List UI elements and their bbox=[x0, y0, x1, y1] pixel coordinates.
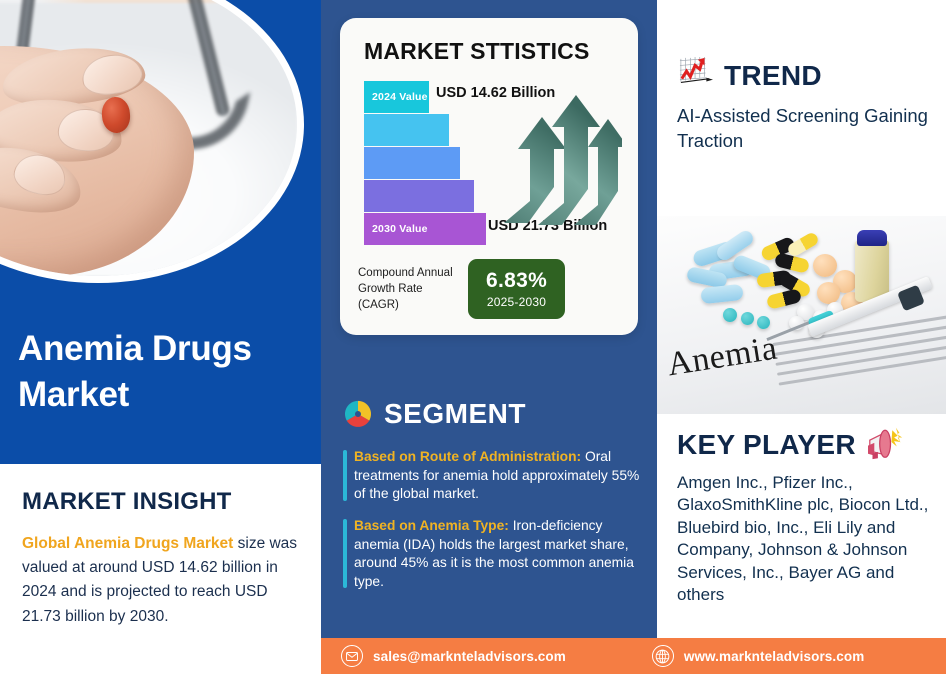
market-statistics-card: MARKET STTISTICS 2024 Value 2030 Value U… bbox=[340, 18, 638, 335]
page-title: Anemia Drugs Market bbox=[18, 326, 308, 418]
hand-holding-red-pill-photo bbox=[0, 0, 297, 276]
megaphone-icon bbox=[864, 424, 908, 465]
bar-step-2 bbox=[364, 114, 449, 146]
market-statistics-title: MARKET STTISTICS bbox=[364, 38, 620, 65]
footer-website[interactable]: www.marknteladvisors.com bbox=[652, 645, 864, 667]
cagr-period: 2025-2030 bbox=[486, 295, 547, 309]
market-insight-highlight: Global Anemia Drugs Market bbox=[22, 535, 233, 552]
bar-step-4 bbox=[364, 180, 474, 212]
vial-cap-icon bbox=[857, 230, 887, 246]
key-player-body: Amgen Inc., Pfizer Inc., GlaxoSmithKline… bbox=[677, 472, 935, 607]
segment-header: SEGMENT bbox=[343, 398, 526, 430]
bar-step-3 bbox=[364, 147, 460, 179]
right-column: TREND AI-Assisted Screening Gaining Trac… bbox=[657, 0, 946, 638]
left-column: Anemia Drugs Market MARKET INSIGHT Globa… bbox=[0, 0, 321, 674]
segment-item-heading: Based on Route of Administration: bbox=[354, 449, 581, 464]
trend-body: AI-Assisted Screening Gaining Traction bbox=[677, 104, 932, 153]
segment-title: SEGMENT bbox=[384, 398, 526, 430]
bar-label-2030: 2030 Value bbox=[372, 223, 428, 235]
infographic-canvas: Anemia Drugs Market MARKET INSIGHT Globa… bbox=[0, 0, 946, 674]
segment-list: Based on Route of Administration: Oral t… bbox=[343, 448, 643, 604]
footer-email-text: sales@marknteladvisors.com bbox=[373, 649, 566, 664]
globe-icon bbox=[652, 645, 674, 667]
cagr-value: 6.83% bbox=[486, 269, 547, 293]
hero-photo bbox=[0, 0, 304, 283]
market-statistics-chart: 2024 Value 2030 Value USD 14.62 Billion … bbox=[358, 81, 620, 241]
pie-chart-icon bbox=[343, 399, 373, 429]
trend-title: TREND bbox=[724, 60, 822, 92]
key-player-title: KEY PLAYER bbox=[677, 429, 856, 461]
segment-item-heading: Based on Anemia Type: bbox=[354, 518, 509, 533]
cagr-badge: 6.83% 2025-2030 bbox=[468, 259, 565, 319]
bar-2030: 2030 Value bbox=[364, 213, 486, 245]
growth-arrows-icon bbox=[502, 91, 622, 231]
cagr-row: Compound Annual Growth Rate (CAGR) 6.83%… bbox=[358, 259, 620, 319]
center-column: MARKET STTISTICS 2024 Value 2030 Value U… bbox=[321, 0, 657, 638]
bar-2024: 2024 Value bbox=[364, 81, 429, 113]
trend-header: TREND bbox=[677, 56, 822, 95]
segment-item: Based on Anemia Type: Iron-deficiency an… bbox=[343, 517, 643, 592]
market-insight-body: Global Anemia Drugs Market size was valu… bbox=[22, 532, 299, 629]
segment-item: Based on Route of Administration: Oral t… bbox=[343, 448, 643, 504]
footer-email[interactable]: sales@marknteladvisors.com bbox=[341, 645, 566, 667]
bar-label-2024: 2024 Value bbox=[372, 91, 428, 103]
chart-trend-icon bbox=[677, 56, 715, 95]
key-player-header: KEY PLAYER bbox=[677, 424, 908, 465]
cagr-label: Compound Annual Growth Rate (CAGR) bbox=[358, 265, 454, 314]
footer-website-text: www.marknteladvisors.com bbox=[684, 649, 864, 664]
footer-bar: sales@marknteladvisors.com www.markntela… bbox=[321, 638, 946, 674]
envelope-icon bbox=[341, 645, 363, 667]
market-insight-heading: MARKET INSIGHT bbox=[22, 488, 299, 516]
market-insight-section: MARKET INSIGHT Global Anemia Drugs Marke… bbox=[0, 464, 321, 674]
anemia-pills-and-syringe-photo: Anemia bbox=[657, 216, 946, 414]
